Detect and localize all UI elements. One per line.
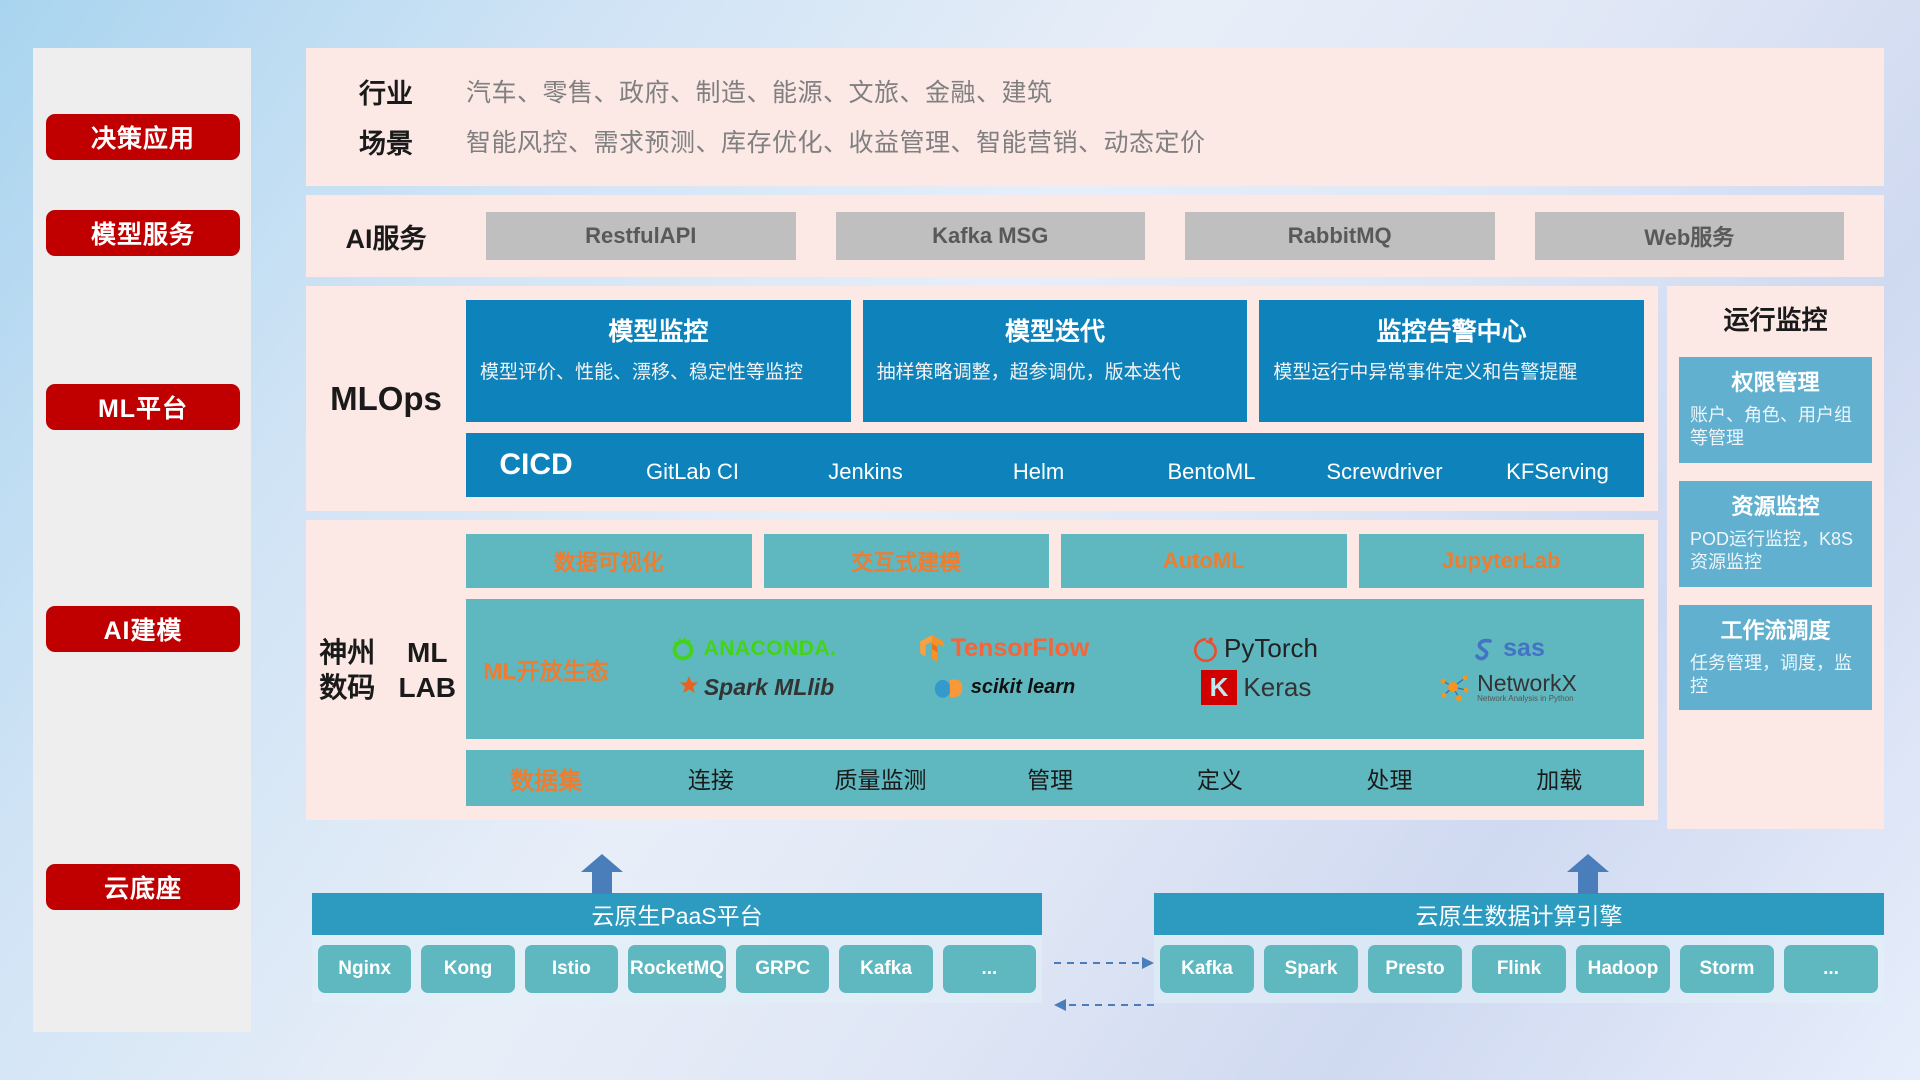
card-title: 模型迭代 bbox=[877, 312, 1234, 348]
dataset-bar: 数据集 连接 质量监测 管理 定义 处理 加载 bbox=[466, 750, 1644, 806]
dataset-item-manage[interactable]: 管理 bbox=[965, 761, 1135, 795]
mlops-card-model-monitoring[interactable]: 模型监控 模型评价、性能、漂移、稳定性等监控 bbox=[466, 300, 851, 422]
card-desc: 任务管理，调度，监控 bbox=[1690, 652, 1861, 699]
dataset-item-quality[interactable]: 质量监测 bbox=[796, 761, 966, 795]
dataset-item-load[interactable]: 加载 bbox=[1474, 761, 1644, 795]
card-title: 权限管理 bbox=[1690, 365, 1861, 397]
mlops-band: MLOps 模型监控 模型评价、性能、漂移、稳定性等监控 模型迭代 抽样策略调整… bbox=[306, 286, 1658, 511]
anaconda-logo: ANACONDA. bbox=[668, 634, 837, 664]
ai-service-chip-restfulapi[interactable]: RestfulAPI bbox=[486, 212, 796, 260]
spark-mllib-logo-text: Spark MLlib bbox=[704, 674, 834, 701]
runtime-monitor-column: 运行监控 权限管理 账户、角色、用户组等管理 资源监控 POD运行监控，K8S资… bbox=[1667, 286, 1884, 829]
engine-chip-more[interactable]: ... bbox=[1784, 945, 1878, 993]
ml-lab-label-line2: ML LAB bbox=[388, 635, 466, 705]
mlops-card-alert-center[interactable]: 监控告警中心 模型运行中异常事件定义和告警提醒 bbox=[1259, 300, 1644, 422]
anaconda-logo-text: ANACONDA. bbox=[704, 637, 837, 661]
ml-open-ecosystem-panel: ML开放生态 ANACONDA. bbox=[466, 599, 1644, 739]
ai-service-chip-rabbitmq[interactable]: RabbitMQ bbox=[1185, 212, 1495, 260]
monitor-card-workflow[interactable]: 工作流调度 任务管理，调度，监控 bbox=[1679, 605, 1872, 711]
industry-label: 行业 bbox=[306, 72, 466, 111]
card-desc: 模型运行中异常事件定义和告警提醒 bbox=[1273, 360, 1630, 386]
ml-lab-label-line1: 神州数码 bbox=[306, 635, 388, 705]
industry-row: 行业 汽车、零售、政府、制造、能源、文旅、金融、建筑 bbox=[306, 66, 1884, 116]
engine-chip-spark[interactable]: Spark bbox=[1264, 945, 1358, 993]
scenario-label: 场景 bbox=[306, 122, 466, 161]
paas-chip-rocketmq[interactable]: RocketMQ bbox=[628, 945, 726, 993]
engine-chip-presto[interactable]: Presto bbox=[1368, 945, 1462, 993]
rail-item-decision-app[interactable]: 决策应用 bbox=[46, 114, 240, 160]
scenario-row: 场景 智能风控、需求预测、库存优化、收益管理、智能营销、动态定价 bbox=[306, 116, 1884, 166]
engine-chip-storm[interactable]: Storm bbox=[1680, 945, 1774, 993]
cloud-native-paas-group: 云原生PaaS平台 Nginx Kong Istio RocketMQ GRPC… bbox=[312, 893, 1042, 1003]
networkx-logo-text: NetworkX bbox=[1477, 672, 1577, 695]
ml-open-ecosystem-label: ML开放生态 bbox=[466, 652, 626, 686]
engine-chip-flink[interactable]: Flink bbox=[1472, 945, 1566, 993]
paas-header: 云原生PaaS平台 bbox=[312, 893, 1042, 935]
tensorflow-logo: TensorFlow bbox=[919, 634, 1089, 664]
mlops-card-model-iteration[interactable]: 模型迭代 抽样策略调整，超参调优，版本迭代 bbox=[863, 300, 1248, 422]
ml-lab-label: 神州数码 ML LAB bbox=[306, 534, 466, 806]
paas-up-arrow-icon bbox=[580, 853, 624, 900]
paas-chip-grpc[interactable]: GRPC bbox=[736, 945, 829, 993]
mllab-tool-jupyterlab[interactable]: JupyterLab bbox=[1359, 534, 1645, 588]
ai-service-band: AI服务 RestfulAPI Kafka MSG RabbitMQ Web服务 bbox=[306, 195, 1884, 277]
mlops-label: MLOps bbox=[306, 300, 466, 497]
cloud-native-data-engine-group: 云原生数据计算引擎 Kafka Spark Presto Flink Hadoo… bbox=[1154, 893, 1884, 1003]
rail-item-cloud-base[interactable]: 云底座 bbox=[46, 864, 240, 910]
industry-values: 汽车、零售、政府、制造、能源、文旅、金融、建筑 bbox=[466, 73, 1053, 109]
cicd-item-jenkins[interactable]: Jenkins bbox=[779, 461, 952, 483]
cicd-item-kfserving[interactable]: KFServing bbox=[1471, 461, 1644, 483]
cicd-item-bentoml[interactable]: BentoML bbox=[1125, 461, 1298, 483]
engine-up-arrow-icon bbox=[1566, 853, 1610, 900]
mllab-tool-interactive-modeling[interactable]: 交互式建模 bbox=[764, 534, 1050, 588]
card-title: 工作流调度 bbox=[1690, 613, 1861, 645]
cloud-base-section: 云原生PaaS平台 Nginx Kong Istio RocketMQ GRPC… bbox=[306, 855, 1884, 1035]
runtime-monitor-title: 运行监控 bbox=[1679, 300, 1872, 337]
ai-service-label: AI服务 bbox=[306, 217, 466, 256]
mllab-tool-automl[interactable]: AutoML bbox=[1061, 534, 1347, 588]
paas-chip-kong[interactable]: Kong bbox=[421, 945, 514, 993]
monitor-card-permission[interactable]: 权限管理 账户、角色、用户组等管理 bbox=[1679, 357, 1872, 463]
left-rail-panel: 决策应用 模型服务 ML平台 AI建模 云底座 bbox=[33, 48, 251, 1032]
dataset-item-process[interactable]: 处理 bbox=[1305, 761, 1475, 795]
paas-chip-istio[interactable]: Istio bbox=[525, 945, 618, 993]
networkx-logo-tagline: Network Analysis in Python bbox=[1477, 695, 1577, 703]
mllab-tool-data-visualization[interactable]: 数据可视化 bbox=[466, 534, 752, 588]
engine-chip-kafka[interactable]: Kafka bbox=[1160, 945, 1254, 993]
keras-logo-text: Keras bbox=[1243, 672, 1311, 703]
card-desc: 模型评价、性能、漂移、稳定性等监控 bbox=[480, 360, 837, 386]
keras-logo: K Keras bbox=[1201, 670, 1312, 705]
scikit-learn-logo-text: scikit learn bbox=[971, 676, 1076, 699]
paas-chip-kafka[interactable]: Kafka bbox=[839, 945, 932, 993]
scenario-values: 智能风控、需求预测、库存优化、收益管理、智能营销、动态定价 bbox=[466, 123, 1206, 159]
card-desc: 抽样策略调整，超参调优，版本迭代 bbox=[877, 360, 1234, 386]
dataset-title: 数据集 bbox=[466, 761, 626, 796]
scikit-learn-logo: scikit learn bbox=[933, 674, 1076, 702]
card-title: 监控告警中心 bbox=[1273, 312, 1630, 348]
pytorch-logo-text: PyTorch bbox=[1224, 633, 1318, 664]
card-title: 模型监控 bbox=[480, 312, 837, 348]
cicd-item-helm[interactable]: Helm bbox=[952, 461, 1125, 483]
dataset-item-connect[interactable]: 连接 bbox=[626, 761, 796, 795]
rail-item-ai-modeling[interactable]: AI建模 bbox=[46, 606, 240, 652]
paas-chip-more[interactable]: ... bbox=[943, 945, 1036, 993]
card-desc: 账户、角色、用户组等管理 bbox=[1690, 404, 1861, 451]
card-title: 资源监控 bbox=[1690, 489, 1861, 521]
card-desc: POD运行监控，K8S资源监控 bbox=[1690, 528, 1861, 575]
spark-mllib-logo: Spark MLlib bbox=[670, 674, 834, 702]
ai-service-chip-kafka-msg[interactable]: Kafka MSG bbox=[836, 212, 1146, 260]
bidirectional-dashed-arrows bbox=[1050, 949, 1158, 1019]
pytorch-logo: PyTorch bbox=[1194, 633, 1318, 664]
cicd-item-screwdriver[interactable]: Screwdriver bbox=[1298, 461, 1471, 483]
monitor-card-resource[interactable]: 资源监控 POD运行监控，K8S资源监控 bbox=[1679, 481, 1872, 587]
ml-lab-band: 神州数码 ML LAB 数据可视化 交互式建模 AutoML JupyterLa… bbox=[306, 520, 1658, 820]
sas-logo-text: sas bbox=[1503, 634, 1545, 663]
cicd-item-gitlab-ci[interactable]: GitLab CI bbox=[606, 461, 779, 483]
networkx-logo: NetworkX Network Analysis in Python bbox=[1439, 672, 1577, 703]
engine-chip-hadoop[interactable]: Hadoop bbox=[1576, 945, 1670, 993]
keras-logo-mark: K bbox=[1201, 670, 1238, 705]
rail-item-model-service[interactable]: 模型服务 bbox=[46, 210, 240, 256]
industry-scenario-band: 行业 汽车、零售、政府、制造、能源、文旅、金融、建筑 场景 智能风控、需求预测、… bbox=[306, 48, 1884, 186]
ai-service-chip-web[interactable]: Web服务 bbox=[1535, 212, 1845, 260]
paas-chip-nginx[interactable]: Nginx bbox=[318, 945, 411, 993]
tensorflow-logo-text: TensorFlow bbox=[951, 634, 1089, 663]
rail-item-ml-platform[interactable]: ML平台 bbox=[46, 384, 240, 430]
cicd-title: CICD bbox=[466, 448, 606, 482]
main-architecture-column: 行业 汽车、零售、政府、制造、能源、文旅、金融、建筑 场景 智能风控、需求预测、… bbox=[306, 48, 1884, 829]
cicd-bar: CICD GitLab CI Jenkins Helm BentoML Scre… bbox=[466, 433, 1644, 497]
sas-logo: sas bbox=[1471, 634, 1545, 663]
dataset-item-define[interactable]: 定义 bbox=[1135, 761, 1305, 795]
engine-header: 云原生数据计算引擎 bbox=[1154, 893, 1884, 935]
